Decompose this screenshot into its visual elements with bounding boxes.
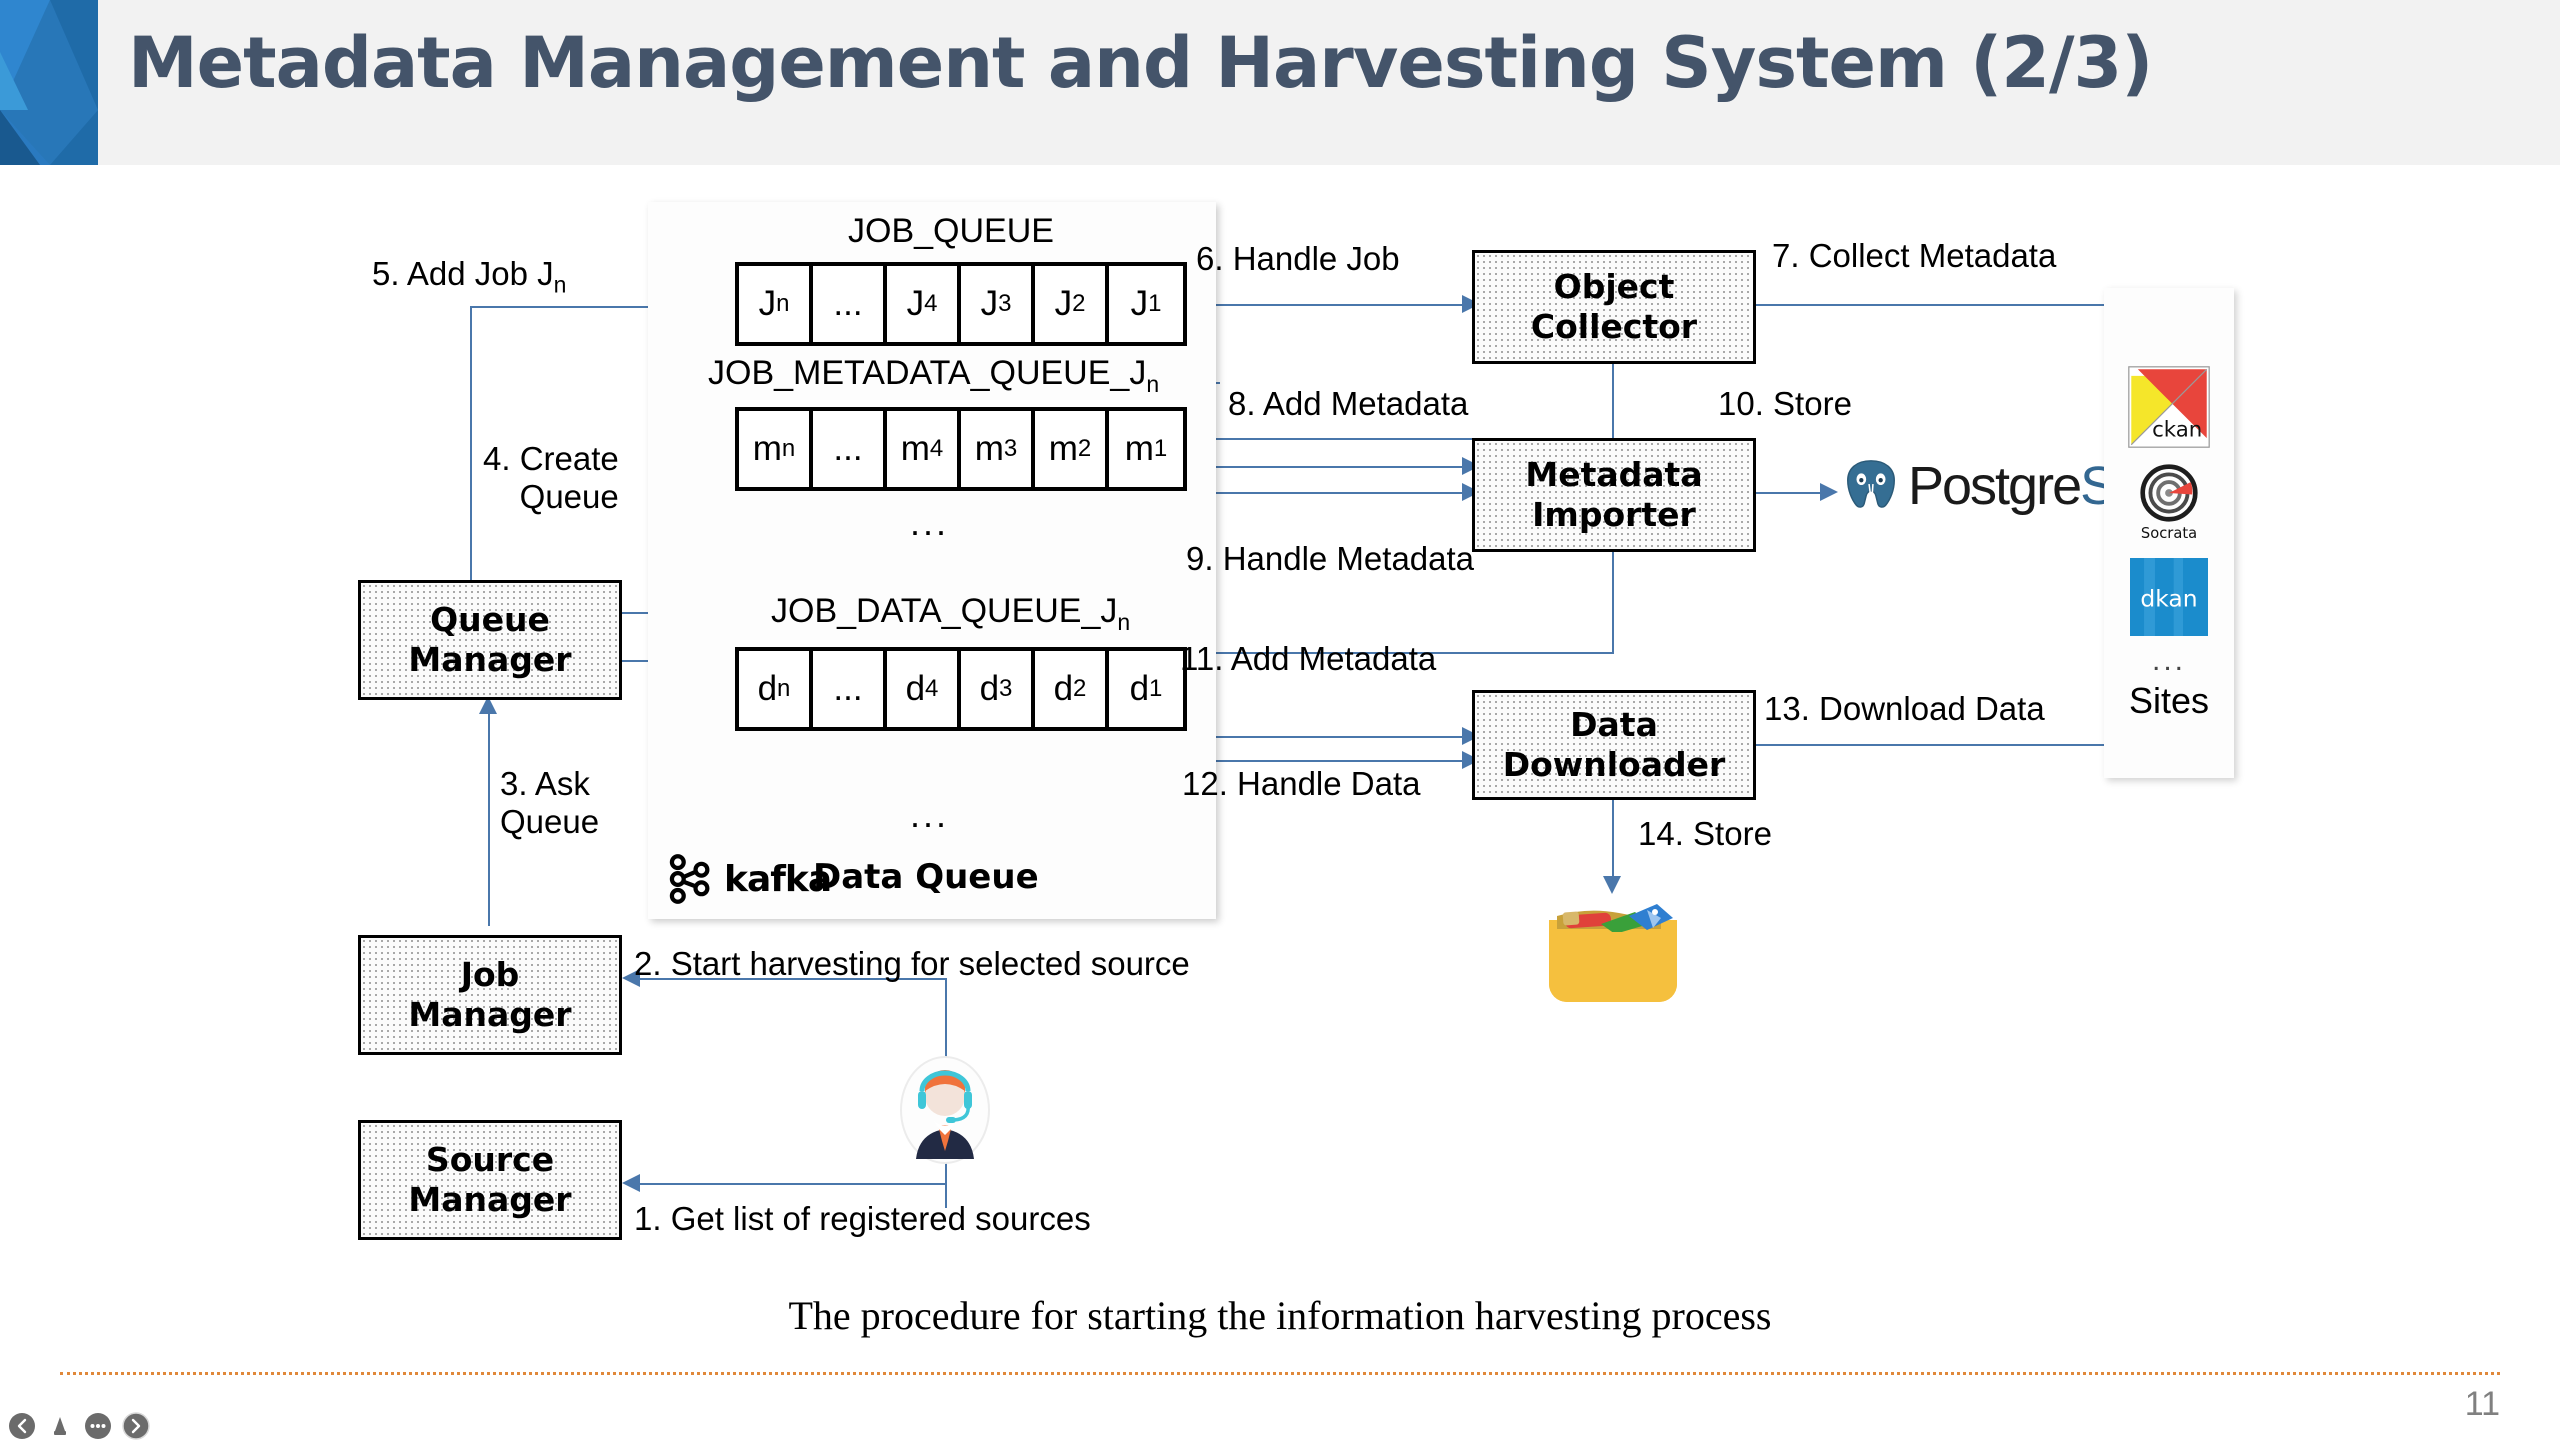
connector-add-meta2-v [1612, 552, 1614, 652]
queue-cell-base: d [980, 669, 999, 709]
data-downloader-label-2: Downloader [1503, 745, 1726, 785]
queue-cell: m2 [1035, 411, 1109, 487]
connector-store-data-v [1612, 800, 1614, 880]
job-queue-title: JOB_QUEUE [848, 212, 1054, 256]
queue-cell: d3 [961, 651, 1035, 727]
metadata-importer-box[interactable]: Metadata Importer [1472, 438, 1756, 552]
queue-cell-subscript: 2 [1073, 675, 1086, 703]
job-data-queue-title-sub: n [1117, 609, 1130, 635]
ellipsis-icon[interactable] [84, 1412, 112, 1440]
queue-cell-base: m [901, 429, 930, 469]
queue-manager-box[interactable]: Queue Manager [358, 580, 622, 700]
socrata-logo-text: Socrata [2141, 525, 2197, 542]
queue-cell: dn [739, 651, 813, 727]
job-queue-row: Jn...J4J3J2J1 [735, 262, 1187, 346]
queue-cell-base: J [907, 284, 925, 324]
sites-ellipsis: ... [2152, 644, 2186, 678]
step-6-label: 6. Handle Job [1196, 240, 1400, 278]
connector-addjob-v [470, 306, 472, 612]
queue-cell: d4 [887, 651, 961, 727]
ckan-logo-icon: ckan [2128, 366, 2210, 448]
step-4-label: 4. Create Queue [483, 440, 619, 516]
dkan-logo-text: dkan [2140, 584, 2197, 612]
connector-person-to-job [945, 978, 947, 1060]
data-downloader-box[interactable]: Data Downloader [1472, 690, 1756, 800]
step-9-label: 9. Handle Metadata [1186, 540, 1474, 578]
queue-ellipsis-bottom: ... [910, 794, 949, 836]
metadata-importer-label-2: Importer [1532, 495, 1696, 535]
data-downloader-label-1: Data [1570, 705, 1658, 745]
sites-label: Sites [2129, 680, 2209, 722]
queue-ellipsis-middle: ... [910, 502, 949, 544]
queue-cell-base: d [758, 669, 777, 709]
queue-cell-base: d [1130, 669, 1149, 709]
queue-cell-base: ... [833, 284, 862, 324]
postgresql-elephant-icon [1840, 455, 1902, 517]
kafka-mark-icon [666, 852, 720, 906]
queue-cell-base: J [759, 284, 777, 324]
step-11-label: 11. Add Metadata [1180, 640, 1436, 678]
queue-manager-label-1: Queue [430, 600, 550, 640]
step-4-line-2: Queue [483, 478, 619, 516]
queue-cell-base: ... [833, 429, 862, 469]
queue-cell-subscript: 4 [925, 675, 938, 703]
step-5-sub: n [554, 272, 567, 298]
presentation-nav-bar[interactable] [8, 1412, 150, 1440]
queue-cell-base: d [1054, 669, 1073, 709]
object-collector-label-2: Collector [1531, 307, 1697, 347]
object-collector-label-1: Object [1554, 267, 1675, 307]
queue-cell: d1 [1109, 651, 1183, 727]
arrowhead-store-pg [1820, 483, 1838, 501]
queue-cell-subscript: 1 [1154, 435, 1167, 463]
job-data-queue-title-text: JOB_DATA_QUEUE_J [771, 592, 1117, 630]
queue-cell: m3 [961, 411, 1035, 487]
step-2-label: 2. Start harvesting for selected source [634, 945, 1190, 983]
step-13-label: 13. Download Data [1764, 690, 2045, 728]
storage-folder-icon [1543, 888, 1683, 1006]
queue-cell: J2 [1035, 266, 1109, 342]
step-3-line-2: Queue [500, 803, 599, 841]
queue-cell: J3 [961, 266, 1035, 342]
step-12-label: 12. Handle Data [1182, 765, 1421, 803]
job-data-queue-title: JOB_DATA_QUEUE_Jn [771, 592, 1130, 636]
footer-divider [60, 1372, 2500, 1375]
step-7-label: 7. Collect Metadata [1772, 237, 2056, 275]
job-manager-label-1: Job [461, 955, 520, 995]
job-metadata-queue-title-sub: n [1146, 371, 1159, 397]
queue-cell-subscript: n [777, 675, 790, 703]
queue-cell-subscript: 2 [1072, 290, 1085, 318]
queue-cell-base: m [1049, 429, 1078, 469]
step-8-label: 8. Add Metadata [1228, 385, 1468, 423]
ckan-logo-text: ckan [2152, 418, 2202, 443]
step-5-text: 5. Add Job J [372, 255, 554, 292]
queue-cell-subscript: 1 [1149, 675, 1162, 703]
step-10-label: 10. Store [1718, 385, 1852, 423]
step-3-label: 3. Ask Queue [500, 765, 599, 841]
step-14-label: 14. Store [1638, 815, 1772, 853]
queue-cell-subscript: 3 [998, 290, 1011, 318]
kafka-data-queue-panel: JOB_QUEUE Jn...J4J3J2J1 JOB_METADATA_QUE… [648, 202, 1216, 919]
connector-store-pg [1756, 492, 1828, 494]
queue-cell-base: m [1125, 429, 1154, 469]
job-data-queue-row: dn...d4d3d2d1 [735, 647, 1187, 731]
title-decoration-triangles [0, 0, 98, 195]
queue-cell-base: J [1055, 284, 1073, 324]
source-manager-box[interactable]: Source Manager [358, 1120, 622, 1240]
kafka-logo: kafka [666, 852, 831, 906]
connector-collect-metadata [1756, 304, 2104, 306]
queue-manager-label-2: Manager [408, 640, 571, 680]
data-queue-caption: Data Queue [813, 857, 1039, 897]
queue-cell: ... [813, 411, 887, 487]
queue-cell-subscript: 2 [1078, 435, 1091, 463]
metadata-importer-label-1: Metadata [1525, 455, 1702, 495]
source-manager-label-1: Source [426, 1140, 554, 1180]
queue-cell: J4 [887, 266, 961, 342]
user-avatar-icon [898, 1055, 992, 1165]
queue-cell-base: ... [833, 669, 862, 709]
step-4-line-1: 4. Create [483, 440, 619, 478]
forward-arrow-icon[interactable] [122, 1412, 150, 1440]
queue-cell-base: d [906, 669, 925, 709]
job-metadata-queue-title-text: JOB_METADATA_QUEUE_J [708, 354, 1146, 392]
queue-cell: ... [813, 266, 887, 342]
page-number: 11 [2465, 1385, 2500, 1424]
queue-cell-subscript: 4 [930, 435, 943, 463]
page-title: Metadata Management and Harvesting Syste… [128, 22, 2152, 104]
step-3-line-1: 3. Ask [500, 765, 599, 803]
connector-download-data [1756, 744, 2104, 746]
queue-cell-base: J [1131, 284, 1149, 324]
object-collector-box[interactable]: Object Collector [1472, 250, 1756, 364]
queue-cell-subscript: n [782, 435, 795, 463]
job-manager-label-2: Manager [408, 995, 571, 1035]
queue-cell-subscript: 4 [924, 290, 937, 318]
arrowhead-to-source-manager [622, 1174, 640, 1192]
back-arrow-icon[interactable] [8, 1412, 36, 1440]
queue-cell-subscript: n [776, 290, 789, 318]
slide-caption: The procedure for starting the informati… [0, 1292, 2560, 1339]
queue-cell-base: J [981, 284, 999, 324]
queue-cell: d2 [1035, 651, 1109, 727]
queue-cell: J1 [1109, 266, 1183, 342]
queue-cell: mn [739, 411, 813, 487]
source-manager-label-2: Manager [408, 1180, 571, 1220]
queue-cell-base: m [753, 429, 782, 469]
step-5-label: 5. Add Job Jn [372, 255, 566, 298]
queue-cell: m1 [1109, 411, 1183, 487]
socrata-logo-icon: Socrata [2130, 462, 2208, 544]
pen-icon[interactable] [46, 1412, 74, 1440]
connector-source-h [640, 1183, 947, 1185]
job-manager-box[interactable]: Job Manager [358, 935, 622, 1055]
sites-panel: ckan Socrata dkan ... Sites [2104, 288, 2234, 778]
queue-cell-subscript: 3 [1004, 435, 1017, 463]
dkan-logo-icon: dkan [2130, 558, 2208, 636]
queue-cell: Jn [739, 266, 813, 342]
slide-title-bar: Metadata Management and Harvesting Syste… [0, 0, 2560, 165]
queue-cell-subscript: 3 [999, 675, 1012, 703]
queue-cell-subscript: 1 [1148, 290, 1161, 318]
queue-cell: m4 [887, 411, 961, 487]
job-metadata-queue-row: mn...m4m3m2m1 [735, 407, 1187, 491]
job-metadata-queue-title: JOB_METADATA_QUEUE_Jn [708, 354, 1159, 398]
queue-cell: ... [813, 651, 887, 727]
job-queue-title-text: JOB_QUEUE [848, 212, 1054, 250]
step-1-label: 1. Get list of registered sources [634, 1200, 1091, 1238]
postgresql-wordmark-postgre: Postgre [1908, 455, 2080, 517]
queue-cell-base: m [975, 429, 1004, 469]
connector-add-metadata-v [1612, 364, 1614, 438]
connector-importer-in-2 [1184, 466, 1470, 468]
connector-job-to-queue [488, 712, 490, 926]
